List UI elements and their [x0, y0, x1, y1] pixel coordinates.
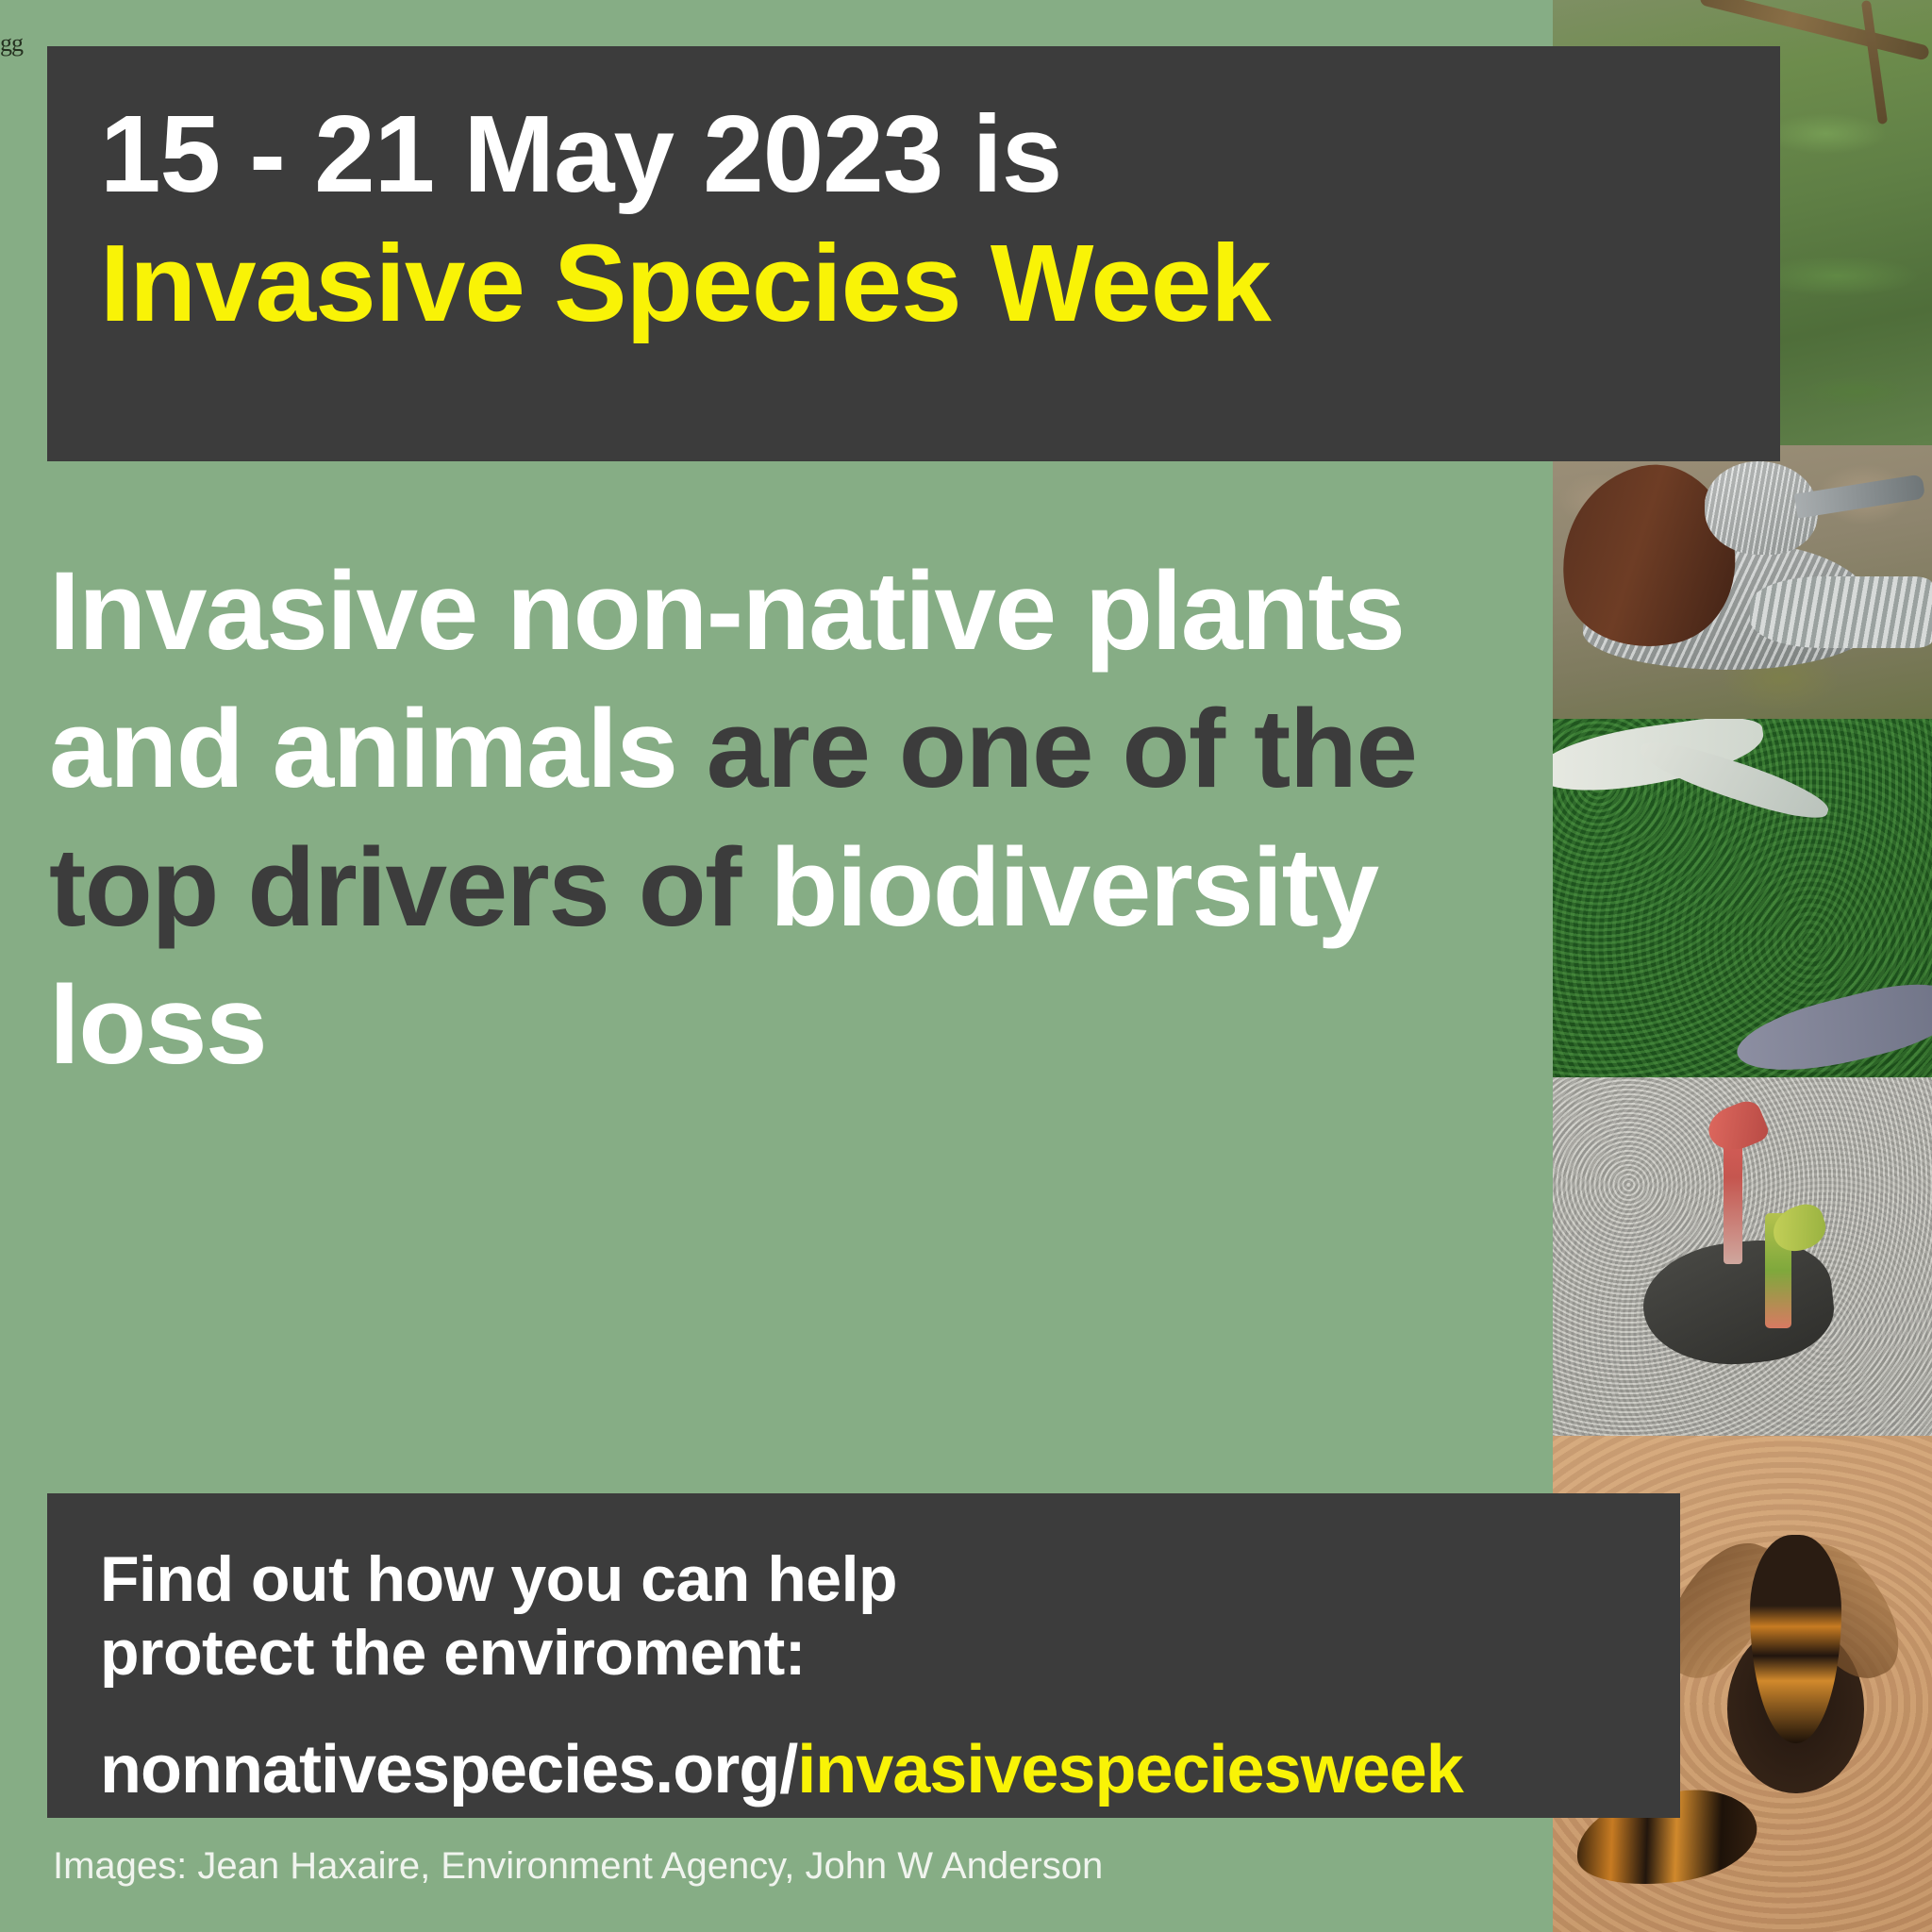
edge-text-artifact: gg	[0, 34, 23, 53]
invasive-aquatic-weed-waterway-photo	[1553, 719, 1932, 1077]
call-to-action-panel: Find out how you can help protect the en…	[47, 1493, 1680, 1818]
invasive-species-week-poster: gg	[0, 0, 1932, 1932]
knotweed-shoot-tip-shape	[1702, 1097, 1771, 1158]
cta-line-two: protect the enviroment:	[100, 1616, 1633, 1690]
image-credits: Images: Jean Haxaire, Environment Agency…	[53, 1845, 1103, 1888]
headline-event-line: Invasive Species Week	[100, 219, 1727, 348]
main-statement: Invasive non-native plants and animals a…	[49, 542, 1426, 1094]
plant-stem-shape	[1861, 0, 1888, 125]
american-mink-attacking-gannet-photo	[1553, 445, 1932, 719]
japanese-knotweed-through-tarmac-photo	[1553, 1077, 1932, 1436]
website-url[interactable]: nonnativespecies.org/invasivespeciesweek	[100, 1731, 1633, 1808]
url-path: invasivespeciesweek	[797, 1732, 1463, 1807]
cta-line-one: Find out how you can help	[100, 1542, 1633, 1616]
headline-panel: 15 - 21 May 2023 is Invasive Species Wee…	[47, 46, 1780, 461]
gannet-beak-shape	[1794, 474, 1925, 518]
url-domain: nonnativespecies.org/	[100, 1732, 797, 1807]
headline-date-line: 15 - 21 May 2023 is	[100, 90, 1727, 219]
gannet-wing-shape	[1750, 576, 1932, 647]
